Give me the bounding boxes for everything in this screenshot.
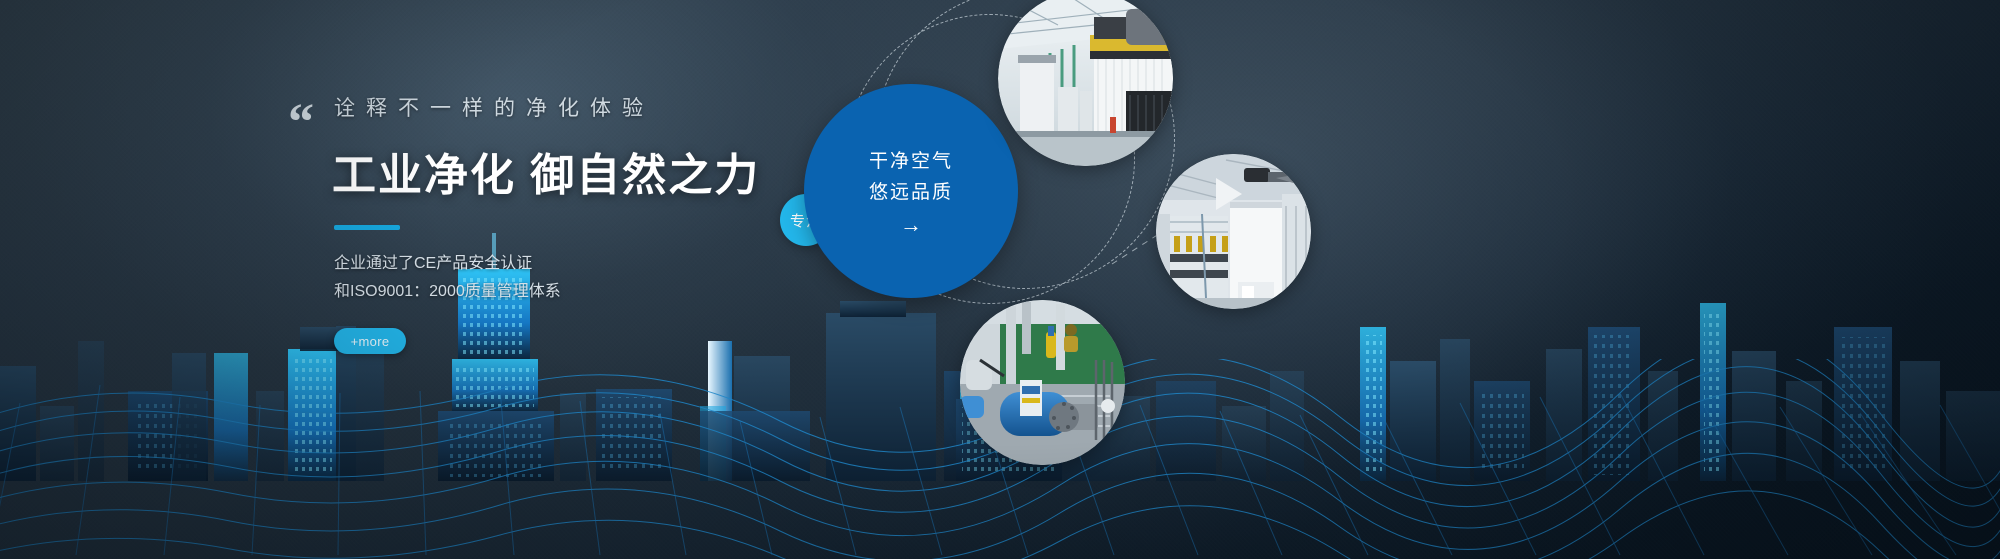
photo-3-art: [960, 300, 1125, 465]
arrow-right-icon: →: [900, 214, 922, 236]
photo-purification-piping[interactable]: [960, 300, 1125, 465]
core-line1: 干净空气: [869, 146, 953, 177]
more-button[interactable]: +more: [334, 328, 406, 354]
core-line2: 悠远品质: [869, 177, 953, 208]
photo-2-art: [1156, 154, 1311, 309]
core-circle[interactable]: 干净空气 悠远品质 →: [804, 84, 1018, 298]
hero-banner: “ 诠释不一样的净化体验 工业净化 御自然之力 企业通过了CE产品安全认证 和I…: [0, 0, 2000, 559]
photo-production-equipment[interactable]: [1156, 154, 1311, 309]
title-divider: [334, 225, 400, 230]
concept-diagram: 专注 干净空气 悠远品质 →: [760, 0, 2000, 559]
quote-mark-icon: “: [288, 97, 314, 149]
